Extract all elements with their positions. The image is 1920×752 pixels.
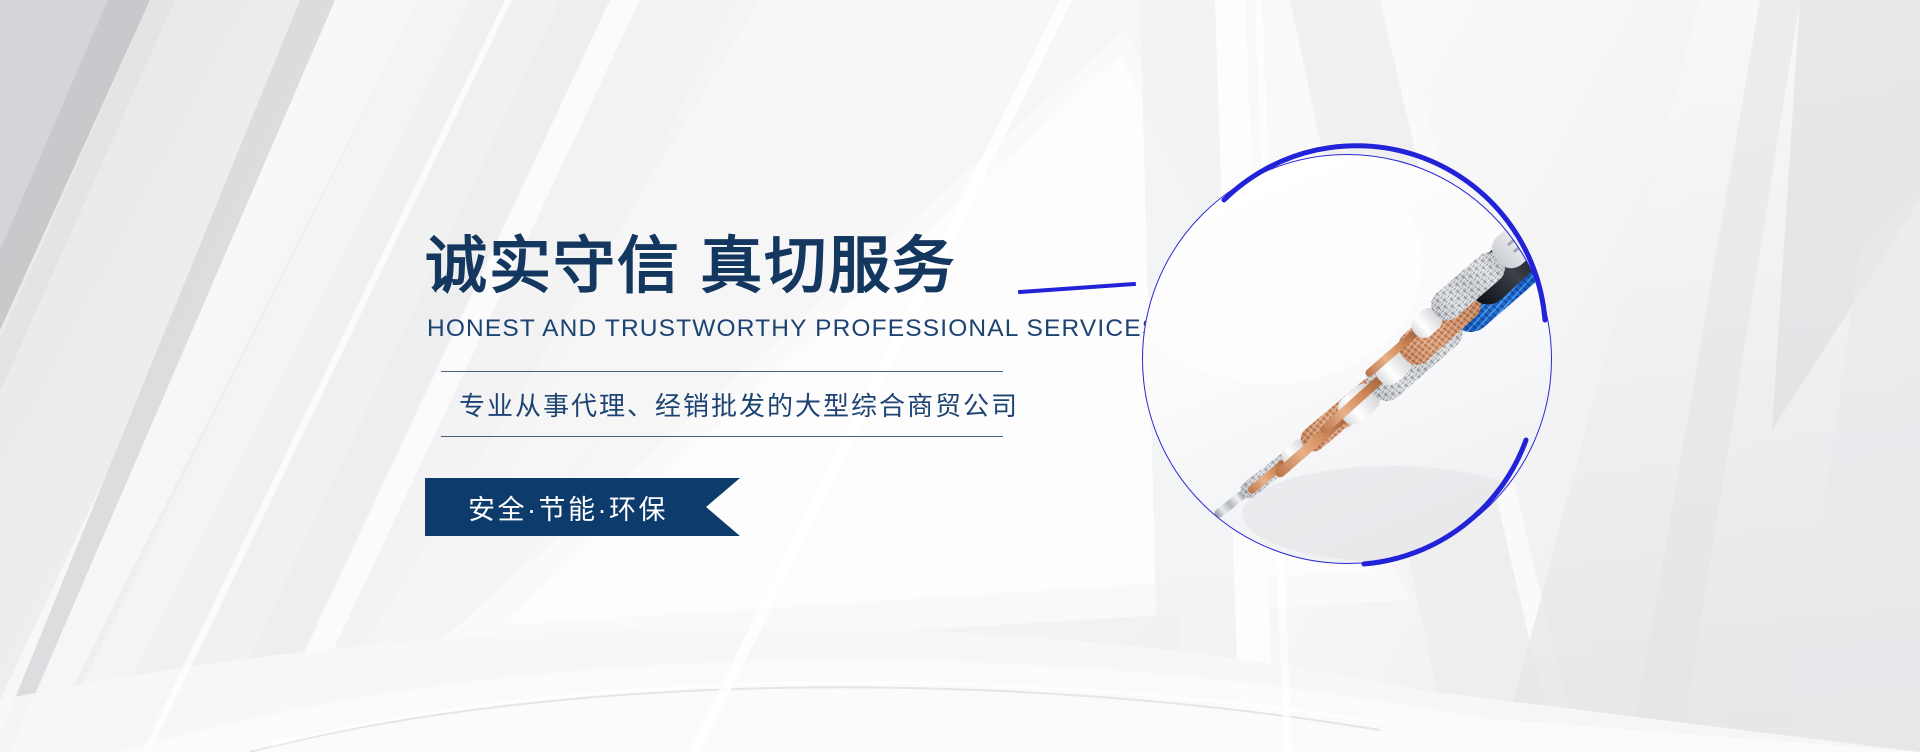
subtitle-chinese: 专业从事代理、经销批发的大型综合商贸公司: [441, 372, 1003, 436]
hero-media: [1128, 140, 1566, 578]
subtitle-english: HONEST AND TRUSTWORTHY PROFESSIONAL SERV…: [427, 315, 1085, 343]
divider-top: [441, 371, 1003, 372]
tagline-ribbon-label: 安全·节能·环保: [425, 488, 668, 527]
cable-photo: [1142, 154, 1552, 564]
hero-banner: 诚实守信 真切服务 HONEST AND TRUSTWORTHY PROFESS…: [0, 0, 1920, 752]
cable-photo-svg: [1142, 154, 1552, 564]
subtitle-rules: 专业从事代理、经销批发的大型综合商贸公司: [441, 371, 1003, 437]
hero-text-block: 诚实守信 真切服务 HONEST AND TRUSTWORTHY PROFESS…: [425, 235, 1085, 437]
divider-bottom: [441, 436, 1003, 437]
tagline-ribbon: 安全·节能·环保: [425, 478, 740, 536]
page-title: 诚实守信 真切服务: [425, 235, 1085, 299]
